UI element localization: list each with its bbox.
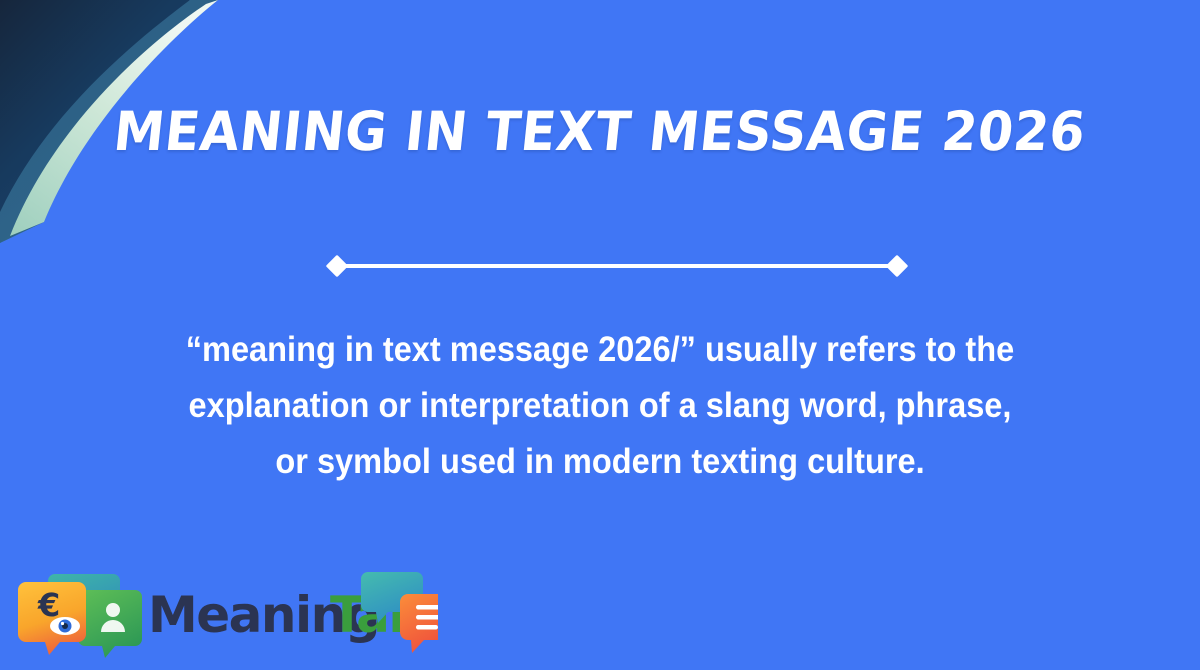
brand-logo[interactable]: € Meaning Talk z xyxy=(8,560,438,665)
speech-bubble-green-icon xyxy=(78,590,142,658)
body-paragraph: “meaning in text message 2026/” usually … xyxy=(182,322,1019,490)
page-title: MEANING IN TEXT MESSAGE 2026 xyxy=(111,104,1088,161)
promo-card: MEANING IN TEXT MESSAGE 2026 “meaning in… xyxy=(0,0,1200,670)
diamond-right-icon xyxy=(886,255,909,278)
body-block: “meaning in text message 2026/” usually … xyxy=(150,322,1050,490)
divider xyxy=(329,256,905,276)
eye-icon xyxy=(50,617,80,635)
speech-bubble-orange-icon: € xyxy=(18,582,86,655)
diamond-left-icon xyxy=(326,255,349,278)
title-block: MEANING IN TEXT MESSAGE 2026 xyxy=(0,104,1200,161)
euro-glyph: € xyxy=(37,586,60,624)
divider-rule xyxy=(342,264,892,268)
